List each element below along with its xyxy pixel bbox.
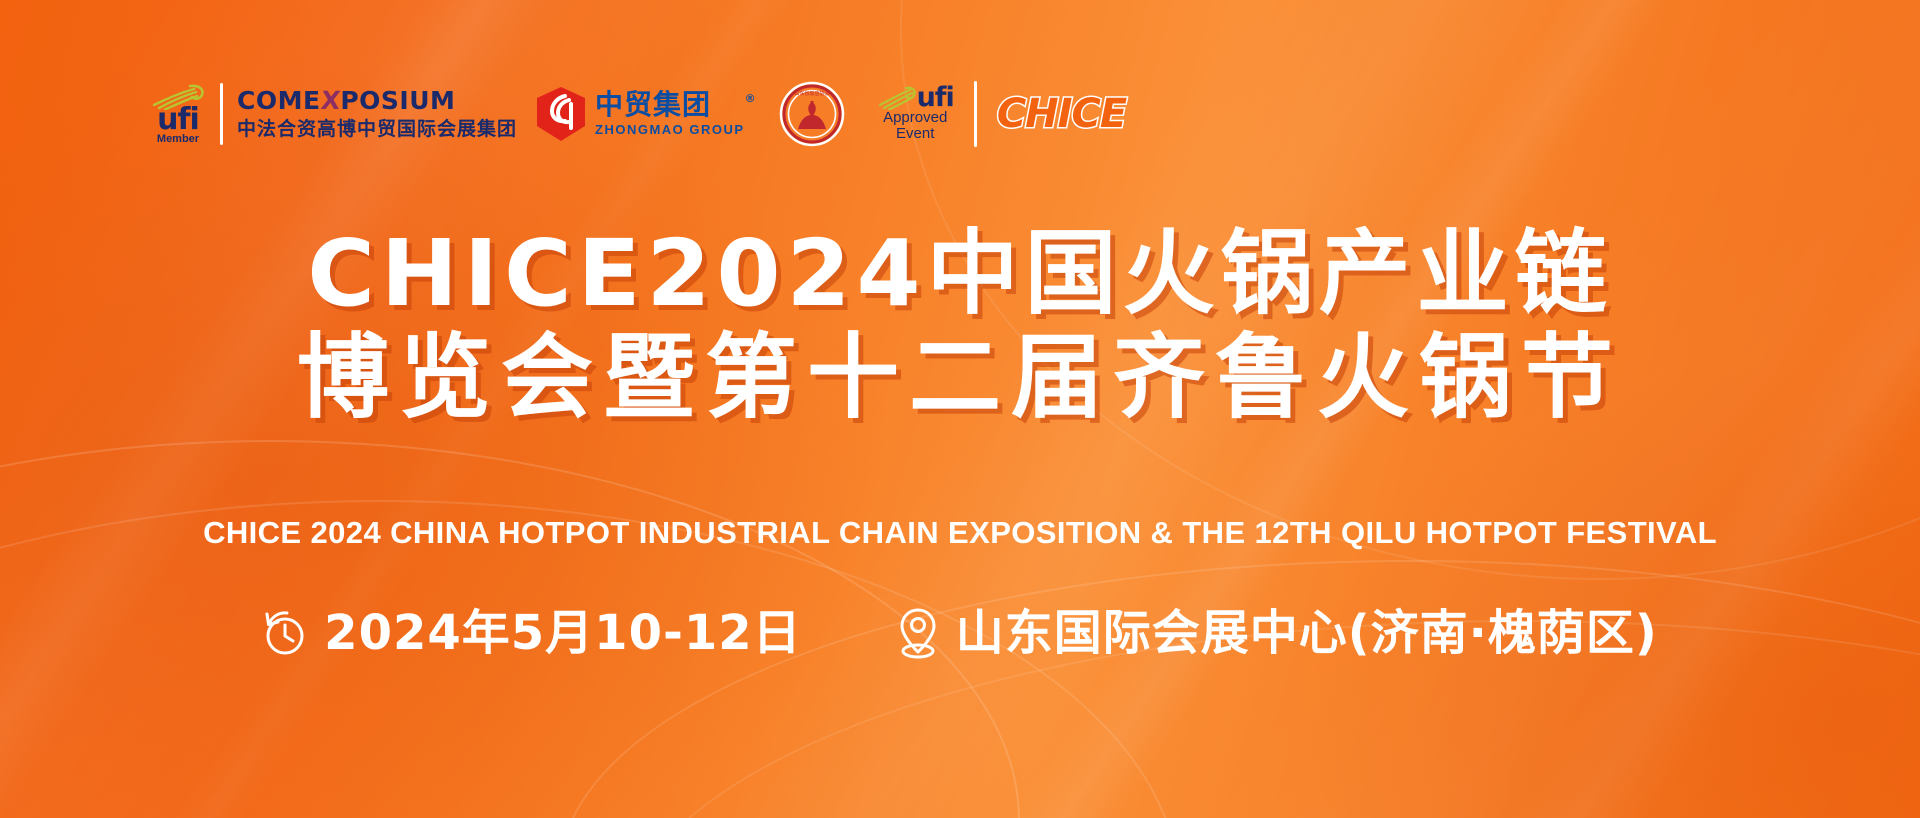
event-venue: 山东国际会展中心(济南·槐荫区) xyxy=(894,605,1658,661)
ufi-wordmark: ufi xyxy=(157,107,199,133)
event-banner: ufi Member COMEXPOSIUM 中法合资高博中贸国际会展集团 xyxy=(0,0,1920,818)
chice-wordmark: CHICE xyxy=(997,91,1126,137)
shandong-association-seal: 山东省饭店协会 xyxy=(779,78,845,150)
event-date-text: 2024年5月10-12日 xyxy=(324,605,802,661)
ufi-approved-label-line2: Event xyxy=(896,126,934,142)
page-title-line-2: 博览会暨第十二届齐鲁火锅节 xyxy=(0,326,1920,430)
comexposium-x-glyph: X xyxy=(319,87,342,115)
comexposium-text-right: POSIUM xyxy=(340,87,455,115)
chice-logo: CHICE xyxy=(997,78,1126,150)
association-seal-icon: 山东省饭店协会 xyxy=(779,81,845,147)
ufi-member-label: Member xyxy=(157,133,199,145)
page-title-line-1: CHICE2024中国火锅产业链 xyxy=(0,222,1920,326)
event-subtitle-english: CHICE 2024 CHINA HOTPOT INDUSTRIAL CHAIN… xyxy=(0,515,1920,551)
background-curve xyxy=(560,560,1920,818)
clock-icon xyxy=(262,606,310,660)
comexposium-logo: COMEXPOSIUM 中法合资高博中贸国际会展集团 xyxy=(237,78,517,150)
comexposium-chinese-name: 中法合资高博中贸国际会展集团 xyxy=(237,117,517,141)
ufi-approved-label-line1: Approved xyxy=(883,110,947,126)
ufi-approved-event-logo: ufi Approved Event xyxy=(877,78,954,150)
registered-trademark-icon: ® xyxy=(745,84,757,114)
comexposium-text-left: COME xyxy=(237,87,321,115)
logo-divider xyxy=(974,81,977,147)
zhongmao-chinese-name: 中贸集团® xyxy=(595,90,745,120)
ufi-member-logo: ufi Member xyxy=(150,78,206,150)
event-info-row: 2024年5月10-12日 山东国际会展中心(济南·槐荫区) xyxy=(0,605,1920,661)
zhongmao-english-name: ZHONGMAO GROUP xyxy=(595,122,745,138)
svg-text:山东省饭店协会: 山东省饭店协会 xyxy=(794,90,829,97)
ufi-wing-icon xyxy=(150,84,206,110)
logo-divider xyxy=(220,83,223,145)
ufi-approved-wordmark: ufi xyxy=(917,86,954,110)
ufi-approved-wing-icon xyxy=(877,86,917,110)
zhongmao-group-logo: 中贸集团® ZHONGMAO GROUP xyxy=(535,78,745,150)
event-date: 2024年5月10-12日 xyxy=(262,605,802,661)
zhongmao-emblem-icon xyxy=(535,86,587,142)
location-pin-icon xyxy=(894,606,942,660)
event-title: CHICE2024中国火锅产业链 博览会暨第十二届齐鲁火锅节 xyxy=(0,222,1920,430)
sponsor-logo-row: ufi Member COMEXPOSIUM 中法合资高博中贸国际会展集团 xyxy=(150,78,1126,150)
event-venue-text: 山东国际会展中心(济南·槐荫区) xyxy=(956,605,1658,661)
